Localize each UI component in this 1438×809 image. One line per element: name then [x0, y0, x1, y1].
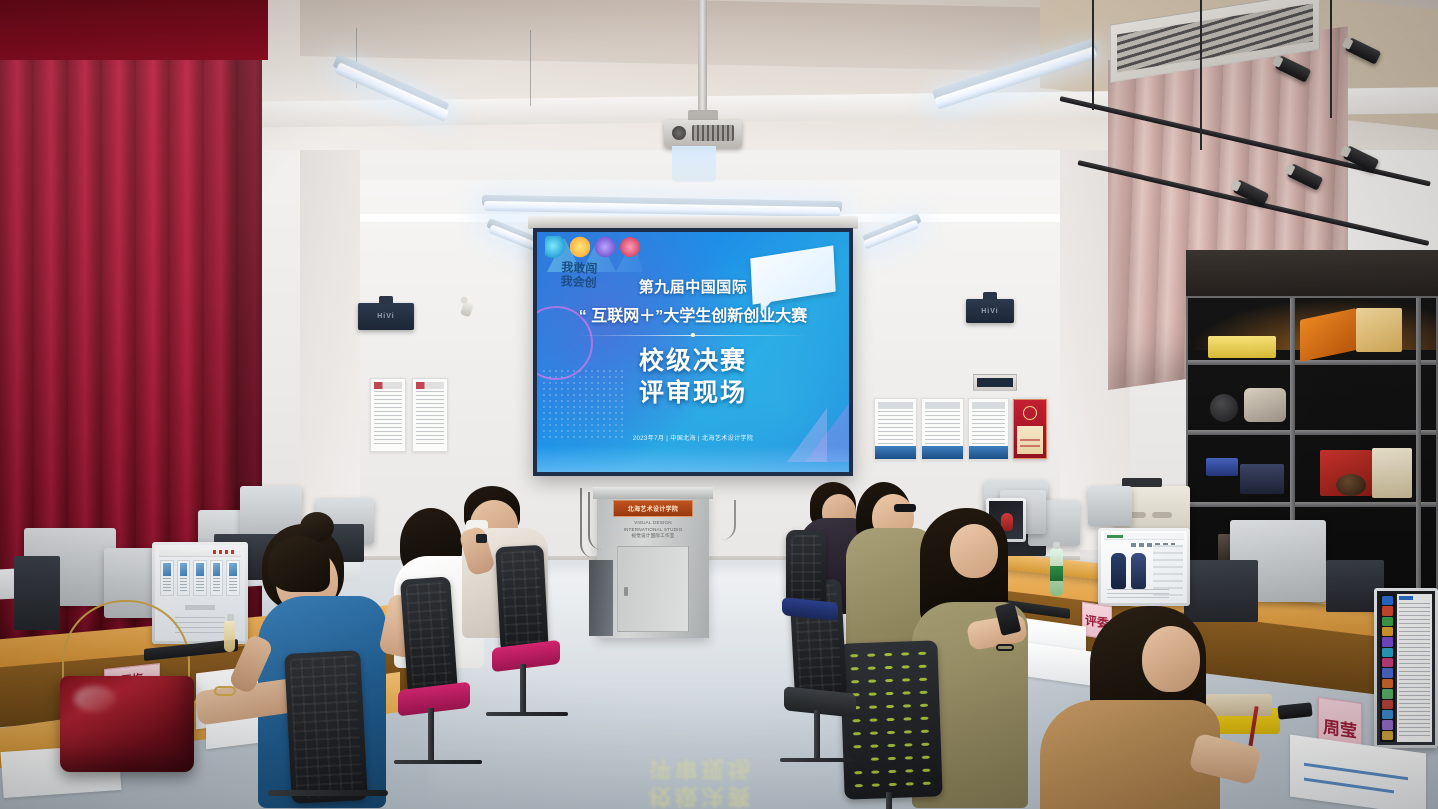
poster-header [416, 382, 444, 389]
ppt-slide-thumb[interactable] [193, 560, 207, 596]
screen-main-line-2: 评审现场 [537, 377, 849, 409]
fashion-figure [1131, 553, 1146, 589]
certificate-seal-icon [1023, 406, 1037, 420]
shelf-item-bowl [1210, 394, 1238, 422]
monitor-back-left-2 [14, 556, 60, 630]
monitor-back-right-5 [1088, 486, 1132, 526]
podium-cabinet-door[interactable] [617, 546, 689, 632]
bottle-label [1050, 566, 1063, 581]
chair-backrest [786, 530, 826, 608]
wall-poster-left-2 [412, 378, 448, 452]
track-drop-rod [1200, 0, 1202, 150]
food-items [1206, 694, 1272, 716]
shelf-item-fabric [1240, 464, 1284, 494]
water-bottle [1050, 548, 1063, 596]
ppt-body-line [185, 605, 215, 610]
wall-poster-left-1 [370, 378, 406, 452]
speaker-left: HiVi [358, 303, 414, 330]
monitor-windows-desktop[interactable] [1374, 588, 1438, 748]
podium-top [593, 487, 713, 499]
poster-header [972, 402, 1005, 409]
monitor-screen [1101, 531, 1187, 603]
poster-text-lines [416, 391, 444, 447]
desktop-icon[interactable] [1382, 617, 1393, 626]
chair-mesh [791, 535, 821, 603]
floor-reflect-line2: 评审现场 [591, 755, 812, 783]
chair-backrest [495, 545, 548, 653]
desktop-icon[interactable] [1382, 731, 1393, 740]
chair-backrest [400, 576, 458, 695]
screen-title-block: 第九届中国国际 “ 互联网＋”大学生创新创业大赛 校级决赛 评审现场 [537, 276, 849, 409]
floor-reflected-text: 校级决赛 评审现场 [591, 752, 812, 809]
desktop-icon-column[interactable] [1380, 594, 1395, 742]
ppt-slide-thumb[interactable] [226, 560, 240, 596]
projection-screen: 我敢闯 我会创 第九届中国国际 “ 互联网＋”大学生创新创业大赛 校级决赛 评审… [537, 232, 849, 472]
wall-poster-right-2 [921, 398, 964, 460]
ppt-slide-thumb[interactable] [160, 560, 174, 596]
podium-cn-sub: 视觉设计国际工作室 [607, 533, 699, 540]
desktop-icon[interactable] [1382, 658, 1393, 667]
chair-backrest [284, 650, 368, 804]
speaker-left-brand: HiVi [377, 313, 395, 320]
chair-post [886, 792, 892, 809]
monitor-back-right-7 [1184, 560, 1258, 622]
floor-reflect-line1: 校级决赛 [591, 783, 812, 809]
desktop-icon[interactable] [1382, 700, 1393, 709]
screen-footer-text: 2023年7月 | 中国北海 | 北海艺术设计学院 [537, 433, 849, 442]
chair-base [268, 790, 388, 796]
certificate-body [1017, 426, 1043, 454]
shelf-divider [1188, 360, 1436, 365]
screen-text-lines [1107, 589, 1169, 599]
chair-mesh-green [846, 647, 937, 794]
projector-light-beam [672, 146, 716, 182]
podium-cables [700, 500, 736, 540]
light-wire [530, 30, 531, 106]
poster-text-lines [925, 411, 960, 451]
sunglasses [894, 504, 916, 512]
speaker-right-brand: HiVi [981, 308, 999, 315]
chair-base [486, 712, 568, 716]
fashion-figure [1111, 553, 1126, 589]
desktop-icon[interactable] [1382, 720, 1393, 729]
shelf-item-box-blue [1206, 458, 1238, 476]
desktop-icon[interactable] [1382, 637, 1393, 646]
shelf-divider [1188, 502, 1436, 507]
shelf-divider-vertical [1416, 298, 1421, 594]
poster-text-lines [374, 391, 402, 447]
poster-header [925, 402, 960, 409]
track-drop-rod [1330, 0, 1332, 118]
logo-icon-spiral [620, 236, 640, 258]
shelf-divider [1188, 430, 1436, 435]
chair-post [428, 708, 434, 764]
podium-en-line-1: VISUAL DESIGN [607, 520, 699, 527]
ppt-ribbon [159, 548, 241, 557]
bracelet [214, 686, 236, 696]
curtain-left-valance [0, 0, 268, 60]
wall-poster-right-1 [874, 398, 917, 460]
screen-headline-1: 第九届中国国际 [537, 276, 849, 297]
screen-wave-decor [537, 446, 849, 472]
shelf-top-panel [1186, 250, 1438, 298]
honor-certificate-plaque [1013, 399, 1047, 459]
ppt-slide-thumb[interactable] [210, 560, 224, 596]
podium-cables [588, 492, 606, 550]
chair-post [814, 710, 820, 762]
name-card-right-text: 周莹 [1323, 712, 1357, 742]
screen-divider [579, 335, 807, 336]
app-toolbar [1104, 533, 1184, 540]
desktop-icon[interactable] [1382, 648, 1393, 657]
projection-screen-frame: 我敢闯 我会创 第九届中国国际 “ 互联网＋”大学生创新创业大赛 校级决赛 评审… [533, 228, 853, 476]
shelf-item-sculpture [1356, 308, 1402, 352]
chair-mesh [289, 655, 362, 798]
hair-front [268, 536, 330, 592]
shelf-item-jars [1208, 336, 1276, 358]
track-drop-rod [1092, 0, 1094, 110]
screen-headline-2: “ 互联网＋”大学生创新创业大赛 [537, 302, 849, 326]
wristwatch [476, 534, 487, 543]
wall-poster-right-3 [968, 398, 1009, 460]
poster-header [374, 382, 402, 389]
poster-text-lines [972, 411, 1005, 451]
screen-main-line-1: 校级决赛 [537, 345, 849, 377]
document-window[interactable] [1397, 594, 1432, 742]
shelf-item-ornament [1336, 474, 1366, 496]
ppt-slide-thumb[interactable] [177, 560, 191, 596]
poster-text-lines [878, 411, 913, 451]
projector [664, 120, 742, 148]
speaker-right: HiVi [966, 299, 1014, 323]
monitor-screen [1377, 591, 1435, 745]
poster-footer-band [969, 446, 1008, 459]
shelf-item-vase [1244, 388, 1286, 422]
podium-name-plate: 北海艺术设计学院 [613, 500, 693, 517]
handbag [60, 676, 194, 772]
desktop-icon[interactable] [1382, 689, 1393, 698]
poster-footer-band [922, 446, 963, 459]
face [1142, 626, 1200, 692]
poster-footer-band [875, 446, 916, 459]
ppt-slide-thumbnails [160, 560, 240, 596]
face [950, 524, 998, 578]
bracelet [996, 644, 1014, 651]
podium-pc-tower [589, 560, 613, 636]
chair-mesh [501, 550, 544, 648]
chair-base [394, 760, 482, 764]
podium-english-label: VISUAL DESIGN INTERNATIONAL STUDIO 视觉设计国… [607, 520, 699, 540]
shelf-item-paper-stack [1372, 448, 1412, 498]
desktop-icon[interactable] [1382, 596, 1393, 605]
poster-header [878, 402, 913, 409]
wall-display-box [973, 374, 1017, 391]
desktop-icon[interactable] [1382, 606, 1393, 615]
screen-main-text: 校级决赛 评审现场 [537, 345, 849, 409]
desktop-icon[interactable] [1382, 627, 1393, 636]
desktop-icon[interactable] [1382, 679, 1393, 688]
chair-base [780, 758, 864, 762]
slogan-line-1: 我敢闯 [561, 261, 598, 275]
ppt-body-lines [175, 617, 225, 633]
drink-cup [224, 620, 235, 652]
classroom-photo: 校级决赛 评审现场 HiVi HiVi [0, 0, 1438, 809]
monitor-fashion-design[interactable] [1098, 528, 1190, 606]
desktop-icon[interactable] [1382, 668, 1393, 677]
chair-post [520, 664, 526, 716]
chair-mesh [405, 582, 452, 691]
projector-mount-pole [698, 0, 707, 118]
desktop-icon[interactable] [1382, 710, 1393, 719]
chair-backrest [839, 640, 942, 799]
